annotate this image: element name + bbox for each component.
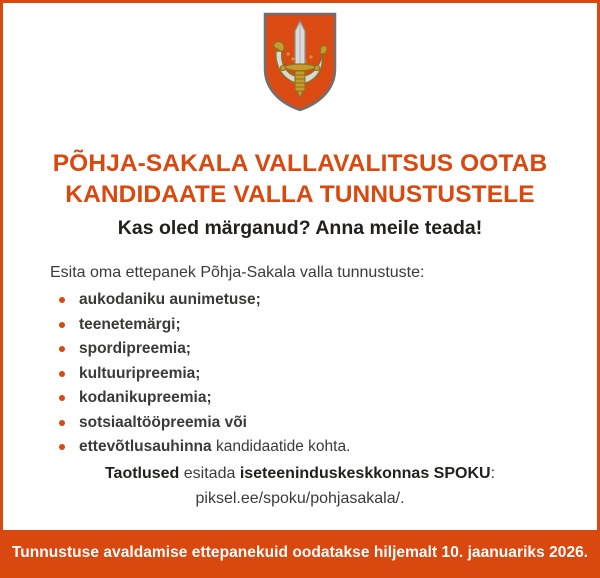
list-item: sotsiaaltööpreemia või — [50, 412, 350, 433]
deadline-banner: Tunnustuse avaldamise ettepanekuid oodat… — [3, 530, 597, 575]
deadline-text: Tunnustuse avaldamise ettepanekuid oodat… — [12, 544, 588, 562]
apply-portal-name: iseteeninduskeskkonnas SPOKU — [240, 465, 491, 482]
apply-keyword: Taotlused — [105, 465, 179, 482]
apply-colon: : — [491, 465, 495, 482]
list-item: kultuuripreemia; — [50, 363, 350, 384]
bullet-dot-icon — [59, 444, 65, 450]
list-item: spordipreemia; — [50, 338, 350, 359]
page-title-line1: PÕHJA-SAKALA VALLAVALITSUS OOTAB — [53, 150, 548, 177]
page-title: PÕHJA-SAKALA VALLAVALITSUS OOTAB KANDIDA… — [33, 148, 567, 210]
pohja-sakala-coat-of-arms-icon — [262, 11, 338, 113]
announcement-poster: PÕHJA-SAKALA VALLAVALITSUS OOTAB KANDIDA… — [0, 0, 600, 578]
list-item: aukodaniku aunimetuse; — [50, 289, 350, 310]
bullet-dot-icon — [59, 297, 65, 303]
bullet-dot-icon — [59, 395, 65, 401]
list-item: kodanikupreemia; — [50, 387, 350, 408]
list-item-label: aukodaniku aunimetuse; — [79, 291, 261, 308]
crest-container — [3, 11, 597, 113]
page-title-line2: KANDIDAATE VALLA TUNNUSTUSTELE — [33, 179, 567, 210]
apply-connector: esitada — [179, 465, 239, 482]
subtitle: Kas oled märganud? Anna meile teada! — [33, 215, 567, 241]
list-item-label: spordipreemia; — [79, 340, 191, 357]
list-item-tail: kandidaatide kohta. — [212, 438, 351, 455]
application-instructions: Taotlused esitada iseteeninduskeskkonnas… — [43, 461, 557, 511]
bullet-dot-icon — [59, 322, 65, 328]
list-item: teenetemärgi; — [50, 314, 350, 335]
apply-url[interactable]: piksel.ee/spoku/pohjasakala/. — [43, 486, 557, 511]
lead-in-text: Esita oma ettepanek Põhja-Sakala valla t… — [50, 262, 424, 284]
list-item: ettevõtlusauhinna kandidaatide kohta. — [50, 436, 350, 457]
list-item-label: teenetemärgi; — [79, 316, 181, 333]
bullet-dot-icon — [59, 420, 65, 426]
list-item-label: ettevõtlusauhinna — [79, 438, 212, 455]
list-item-label: kultuuripreemia; — [79, 365, 200, 382]
list-item-label: kodanikupreemia; — [79, 389, 212, 406]
list-item-label: sotsiaaltööpreemia või — [79, 414, 247, 431]
award-categories-list: aukodaniku aunimetuse; teenetemärgi; spo… — [50, 289, 350, 461]
bullet-dot-icon — [59, 346, 65, 352]
bullet-dot-icon — [59, 371, 65, 377]
